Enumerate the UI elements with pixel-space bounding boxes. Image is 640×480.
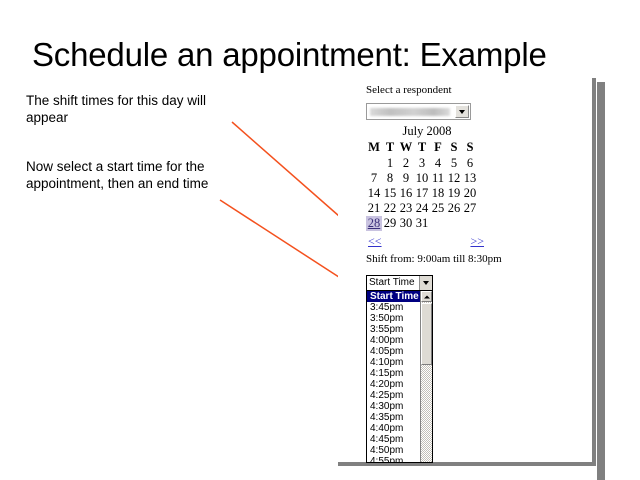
list-item[interactable]: 4:35pm bbox=[367, 412, 421, 423]
start-time-combobox-label: Start Time bbox=[369, 277, 415, 288]
calendar-week-row: 14 15 16 17 18 19 20 bbox=[366, 186, 478, 201]
list-item[interactable]: 3:45pm bbox=[367, 302, 421, 313]
calendar-week-row: 28 29 30 31 bbox=[366, 216, 478, 231]
calendar-day[interactable]: 8 bbox=[382, 171, 398, 186]
list-item[interactable]: 3:55pm bbox=[367, 324, 421, 335]
calendar-day[interactable]: 14 bbox=[366, 186, 382, 201]
calendar-weekday: S bbox=[446, 140, 462, 156]
calendar-day[interactable]: 30 bbox=[398, 216, 414, 231]
list-item[interactable]: 4:45pm bbox=[367, 434, 421, 445]
triangle-up-icon[interactable] bbox=[421, 291, 432, 302]
calendar-day[interactable]: 19 bbox=[446, 186, 462, 201]
calendar-weekday: F bbox=[430, 140, 446, 156]
calendar-day[interactable]: 7 bbox=[366, 171, 382, 186]
chevron-down-icon[interactable] bbox=[455, 105, 469, 118]
annotation-select-start-time: Now select a start time for the appointm… bbox=[26, 158, 241, 192]
list-item[interactable]: 4:15pm bbox=[367, 368, 421, 379]
list-item[interactable]: 4:55pm bbox=[367, 456, 421, 463]
calendar-day[interactable]: 11 bbox=[430, 171, 446, 186]
start-time-listbox[interactable]: Start Time 3:45pm 3:50pm 3:55pm 4:00pm 4… bbox=[366, 291, 433, 463]
calendar-day[interactable]: 3 bbox=[414, 156, 430, 171]
calendar-day[interactable]: 29 bbox=[382, 216, 398, 231]
calendar-month-label: July 2008 bbox=[366, 124, 484, 139]
list-item[interactable]: 4:50pm bbox=[367, 445, 421, 456]
calendar-day[interactable]: 21 bbox=[366, 201, 382, 216]
web-content-panel: Select a respondent July 2008 M T W T bbox=[338, 78, 596, 466]
calendar-prev-link[interactable]: << bbox=[368, 234, 382, 249]
list-item[interactable]: Start Time bbox=[367, 291, 421, 302]
listbox-scrollbar[interactable] bbox=[420, 291, 432, 462]
calendar-day[interactable] bbox=[462, 216, 478, 231]
calendar-day[interactable]: 4 bbox=[430, 156, 446, 171]
list-item[interactable]: 4:40pm bbox=[367, 423, 421, 434]
respondent-select[interactable] bbox=[366, 103, 471, 120]
calendar-day[interactable]: 6 bbox=[462, 156, 478, 171]
list-item[interactable]: 4:10pm bbox=[367, 357, 421, 368]
calendar-day[interactable]: 9 bbox=[398, 171, 414, 186]
respondent-selected-value bbox=[370, 108, 450, 116]
calendar-week-row: 1 2 3 4 5 6 bbox=[366, 156, 478, 171]
calendar-day[interactable]: 15 bbox=[382, 186, 398, 201]
list-item[interactable]: 4:05pm bbox=[367, 346, 421, 357]
calendar-day[interactable]: 12 bbox=[446, 171, 462, 186]
calendar-day[interactable]: 2 bbox=[398, 156, 414, 171]
annotation-shift-times: The shift times for this day will appear bbox=[26, 92, 241, 126]
list-item[interactable]: 4:25pm bbox=[367, 390, 421, 401]
list-item[interactable]: 4:20pm bbox=[367, 379, 421, 390]
calendar-day[interactable]: 1 bbox=[382, 156, 398, 171]
calendar-weekday: T bbox=[382, 140, 398, 156]
calendar-day[interactable]: 27 bbox=[462, 201, 478, 216]
calendar-day[interactable]: 17 bbox=[414, 186, 430, 201]
start-time-control[interactable]: Start Time Start Time 3:45pm 3:50pm 3:55… bbox=[366, 275, 433, 463]
calendar-day[interactable]: 18 bbox=[430, 186, 446, 201]
slide-right-edge-bar bbox=[597, 82, 605, 480]
calendar-day[interactable]: 20 bbox=[462, 186, 478, 201]
start-time-combobox[interactable]: Start Time bbox=[366, 275, 433, 291]
shift-hours-text: Shift from: 9:00am till 8:30pm bbox=[366, 253, 592, 265]
list-item[interactable]: 4:30pm bbox=[367, 401, 421, 412]
calendar-weekday: T bbox=[414, 140, 430, 156]
calendar-day[interactable]: 13 bbox=[462, 171, 478, 186]
calendar-day[interactable]: 5 bbox=[446, 156, 462, 171]
calendar-week-row: 21 22 23 24 25 26 27 bbox=[366, 201, 478, 216]
calendar-day[interactable] bbox=[366, 156, 382, 171]
calendar-week-row: 7 8 9 10 11 12 13 bbox=[366, 171, 478, 186]
list-item[interactable]: 4:00pm bbox=[367, 335, 421, 346]
calendar-day[interactable]: 25 bbox=[430, 201, 446, 216]
calendar-widget[interactable]: July 2008 M T W T F S S bbox=[366, 124, 484, 231]
calendar-next-link[interactable]: >> bbox=[470, 234, 484, 249]
slide-canvas: Schedule an appointment: Example The shi… bbox=[0, 0, 640, 480]
calendar-day[interactable]: 23 bbox=[398, 201, 414, 216]
calendar-day[interactable] bbox=[446, 216, 462, 231]
calendar-day[interactable]: 24 bbox=[414, 201, 430, 216]
scrollbar-thumb[interactable] bbox=[421, 303, 432, 365]
calendar-weekday: M bbox=[366, 140, 382, 156]
calendar-day[interactable] bbox=[430, 216, 446, 231]
calendar-header-row: M T W T F S S bbox=[366, 140, 478, 156]
respondent-label: Select a respondent bbox=[366, 84, 592, 96]
start-time-option-list[interactable]: Start Time 3:45pm 3:50pm 3:55pm 4:00pm 4… bbox=[367, 291, 421, 463]
page-title: Schedule an appointment: Example bbox=[32, 36, 622, 74]
list-item[interactable]: 3:50pm bbox=[367, 313, 421, 324]
calendar-weekday: W bbox=[398, 140, 414, 156]
calendar-grid[interactable]: M T W T F S S 1 2 bbox=[366, 140, 478, 231]
calendar-day[interactable]: 10 bbox=[414, 171, 430, 186]
calendar-weekday: S bbox=[462, 140, 478, 156]
calendar-day[interactable]: 22 bbox=[382, 201, 398, 216]
calendar-day[interactable]: 26 bbox=[446, 201, 462, 216]
calendar-day-selected[interactable]: 28 bbox=[366, 216, 382, 231]
calendar-day[interactable]: 31 bbox=[414, 216, 430, 231]
calendar-day[interactable]: 16 bbox=[398, 186, 414, 201]
chevron-down-icon[interactable] bbox=[419, 276, 432, 290]
